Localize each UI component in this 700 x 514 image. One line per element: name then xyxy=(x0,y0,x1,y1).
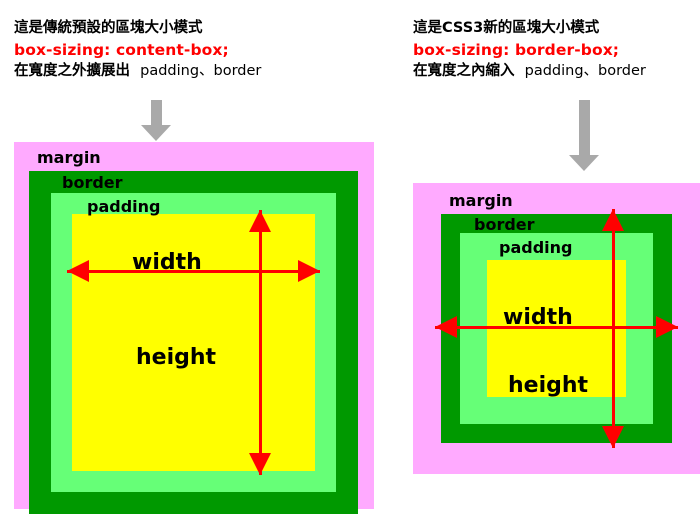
height-label: height xyxy=(136,347,216,369)
height-measure-arrow xyxy=(249,210,271,475)
border-box-declaration: box-sizing: border-box; xyxy=(413,39,646,61)
border-label: border xyxy=(474,217,535,233)
content-box-caption-line3: 在寬度之外擴展出 padding、border xyxy=(14,61,261,82)
measure-line xyxy=(259,210,262,475)
arrow-shaft xyxy=(579,100,590,156)
padding-label: padding xyxy=(499,240,572,256)
arrow-down-icon xyxy=(569,100,599,172)
width-label: width xyxy=(132,252,202,274)
content-box-diagram: margin border padding width height xyxy=(14,142,374,509)
diagram-canvas: 這是傳統預設的區塊大小模式 box-sizing: content-box; 在… xyxy=(0,0,700,514)
border-box-caption-line3-prefix: 在寬度之內縮入 xyxy=(413,63,515,79)
height-measure-arrow xyxy=(602,209,624,448)
border-box-diagram: margin border padding width height xyxy=(413,183,700,474)
arrow-shaft xyxy=(151,100,162,126)
border-box-caption-line3: 在寬度之內縮入 padding、border xyxy=(413,61,646,82)
arrow-head-up xyxy=(249,210,271,232)
content-box-caption-line3-suffix: padding、border xyxy=(140,63,261,79)
content-box-caption: 這是傳統預設的區塊大小模式 box-sizing: content-box; 在… xyxy=(14,18,261,81)
border-label: border xyxy=(62,175,123,191)
arrow-head-left xyxy=(435,316,457,338)
arrow-head-right xyxy=(656,316,678,338)
content-box-declaration: box-sizing: content-box; xyxy=(14,39,261,61)
measure-line xyxy=(612,209,615,448)
width-label: width xyxy=(503,307,573,329)
margin-label: margin xyxy=(37,150,101,166)
arrow-head xyxy=(569,155,599,171)
arrow-head-right xyxy=(298,260,320,282)
arrow-head-up xyxy=(602,209,624,231)
arrow-head-down xyxy=(602,426,624,448)
border-box-caption-line1: 這是CSS3新的區塊大小模式 xyxy=(413,18,646,39)
margin-label: margin xyxy=(449,193,513,209)
padding-label: padding xyxy=(87,199,160,215)
height-label: height xyxy=(508,375,588,397)
border-box-caption: 這是CSS3新的區塊大小模式 box-sizing: border-box; 在… xyxy=(413,18,646,81)
arrow-down-icon xyxy=(141,100,171,142)
content-box-caption-line3-prefix: 在寬度之外擴展出 xyxy=(14,63,130,79)
arrow-head-left xyxy=(67,260,89,282)
content-box-caption-line1: 這是傳統預設的區塊大小模式 xyxy=(14,18,261,39)
arrow-head xyxy=(141,125,171,141)
border-box-caption-line3-suffix: padding、border xyxy=(525,63,646,79)
arrow-head-down xyxy=(249,453,271,475)
